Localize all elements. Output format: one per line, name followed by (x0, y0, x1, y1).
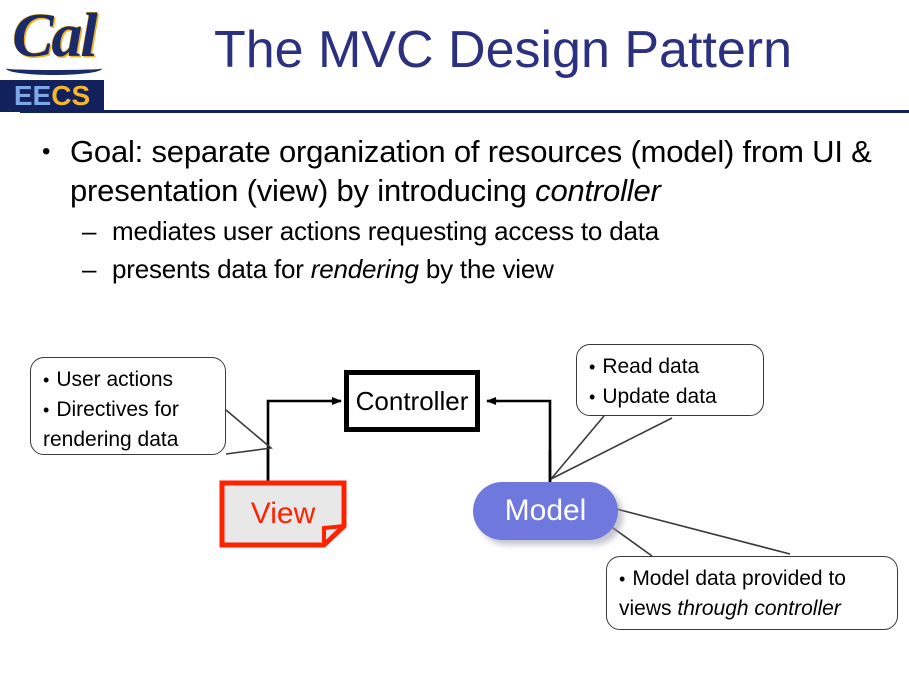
cal-eecs-logo: Cal EECS (0, 0, 108, 112)
connector-view-to-controller (268, 401, 338, 490)
bullet-marker: – (82, 212, 96, 250)
sub-bullet-1-text: mediates user actions requesting access … (112, 216, 659, 246)
node-view (219, 480, 347, 548)
bullet-main-text: Goal: separate organization of resources… (70, 134, 872, 208)
bullet-main-italic: controller (535, 173, 661, 208)
bullet-main: •Goal: separate organization of resource… (34, 132, 874, 210)
callout-model-data-line2-italic: through controller (677, 597, 840, 620)
callout-tail-user-actions (226, 410, 271, 454)
callout-model-data-line2: views through controller (619, 594, 885, 623)
bullet-marker: – (82, 250, 96, 288)
bullet-marker: • (42, 132, 50, 171)
node-model-label: Model (505, 494, 587, 528)
callout-read-data-line: Read data (589, 352, 751, 382)
callout-user-actions-line3: rendering data (43, 425, 213, 454)
sub-bullet-2-italic: rendering (311, 254, 419, 284)
page-title: The MVC Design Pattern (108, 14, 898, 86)
node-controller-label: Controller (356, 386, 469, 417)
node-model: Model (473, 482, 618, 540)
callout-read-update-data: Read data Update data (576, 344, 764, 416)
callout-tail-read-update (551, 416, 672, 479)
mvc-diagram: User actions Directives for rendering da… (0, 330, 909, 674)
sub-bullet-list: –mediates user actions requesting access… (34, 212, 874, 288)
callout-model-data-provided: Model data provided to views through con… (606, 556, 898, 630)
bullet-list: •Goal: separate organization of resource… (34, 132, 874, 288)
eecs-ee-text: EE (14, 82, 51, 110)
callout-user-actions-line1: User actions (43, 365, 213, 395)
callout-model-data-line1: Model data provided to (619, 564, 885, 594)
sub-bullet-2-text: presents data for (112, 254, 311, 284)
node-controller: Controller (344, 370, 480, 432)
eecs-cs-text: CS (51, 82, 90, 110)
callout-model-data-line2-text: views (619, 597, 677, 620)
connector-model-to-controller (492, 401, 550, 490)
callout-user-actions-line2: Directives for (43, 395, 213, 425)
slide-header: Cal EECS The MVC Design Pattern (0, 0, 909, 118)
eecs-badge: EECS (0, 80, 104, 112)
sub-bullet-1: –mediates user actions requesting access… (82, 212, 874, 250)
callout-user-actions: User actions Directives for rendering da… (30, 357, 226, 455)
sub-bullet-2-tail: by the view (419, 254, 554, 284)
title-divider (20, 110, 909, 113)
sub-bullet-2: –presents data for rendering by the view (82, 250, 874, 288)
callout-update-data-line: Update data (589, 382, 751, 412)
cal-swoosh-icon (6, 62, 102, 75)
